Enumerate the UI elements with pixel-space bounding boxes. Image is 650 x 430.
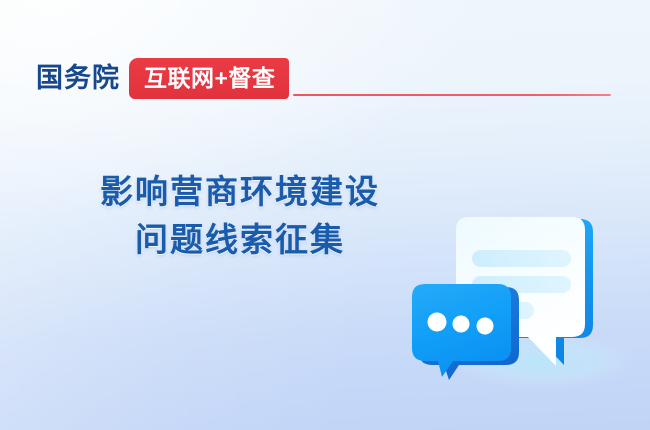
internet-supervision-badge: 互联网+督查 <box>129 58 289 99</box>
gov-council-label: 国务院 <box>36 65 120 92</box>
typing-dot <box>428 313 447 332</box>
page-title: 影响营商环境建设 问题线索征集 <box>58 168 422 264</box>
bubble-text-bar <box>472 250 571 267</box>
title-line-2: 问题线索征集 <box>58 216 422 264</box>
badge-label: 互联网+督查 <box>144 67 275 90</box>
typing-dot <box>453 316 470 333</box>
header: 国务院 互联网+督查 <box>36 56 289 100</box>
header-divider-rule <box>293 94 611 96</box>
poster-canvas: 国务院 互联网+督查 影响营商环境建设 问题线索征集 <box>0 0 650 430</box>
typing-dot <box>477 318 494 335</box>
chat-bubbles-illustration <box>392 198 650 403</box>
chat-bubbles-svg <box>392 198 650 403</box>
title-line-1: 影响营商环境建设 <box>58 168 422 216</box>
